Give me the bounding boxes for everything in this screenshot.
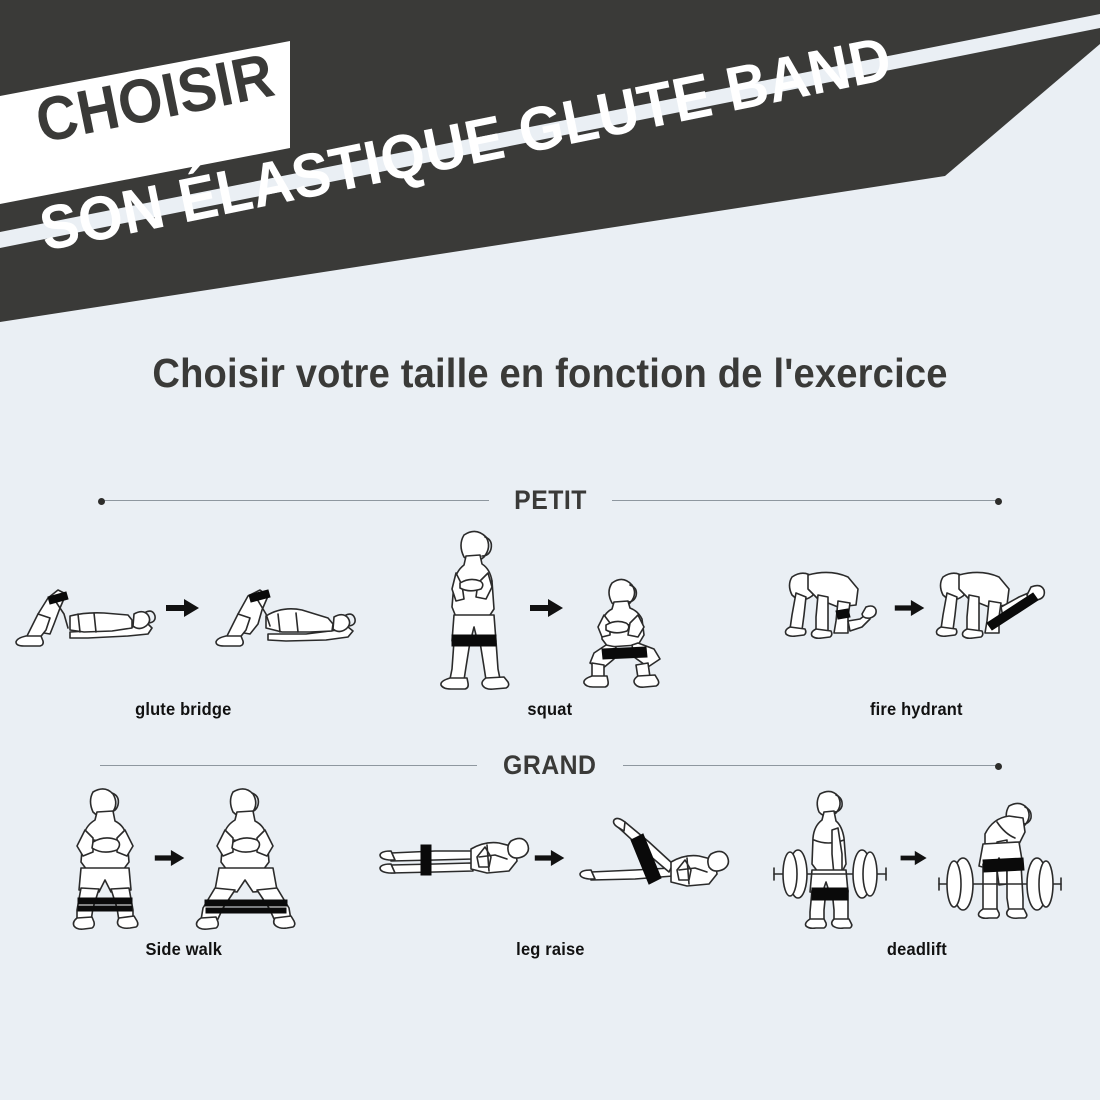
glute-bridge-figure-end [208, 568, 358, 648]
exercise-glute-bridge: glute bridge [0, 520, 367, 720]
exercise-deadlift: deadlift [733, 780, 1100, 960]
side-walk-figure-end [193, 784, 301, 932]
deadlift-figure-end [935, 788, 1065, 928]
exercise-fire-hydrant: fire hydrant [733, 520, 1100, 720]
figure-pair-side-walk [65, 780, 301, 935]
exercise-leg-raise: leg raise [367, 780, 734, 960]
size-label-grand: GRAND [500, 750, 601, 781]
exercise-squat: squat [367, 520, 734, 720]
arrow-right-icon [164, 596, 202, 620]
arrow-right-icon [528, 596, 566, 620]
size-divider-petit: PETIT [100, 485, 1000, 516]
figure-pair-glute-bridge [8, 520, 358, 695]
banner-title-line-1: CHOISIR [30, 40, 280, 158]
squat-figure-end [572, 523, 670, 693]
figure-pair-squat [430, 520, 670, 695]
size-label-petit: PETIT [510, 485, 590, 516]
exercise-label-squat: squat [528, 699, 573, 720]
exercise-label-side-walk: Side walk [145, 939, 222, 960]
exercise-label-fire-hydrant: fire hydrant [870, 699, 963, 720]
deadlift-figure-start [768, 788, 893, 928]
squat-figure-start [430, 523, 522, 693]
figure-pair-deadlift [768, 780, 1065, 935]
fire-hydrant-figure-end [933, 563, 1051, 653]
exercise-side-walk: Side walk [0, 780, 367, 960]
header-banner: CHOISIR SON ÉLASTIQUE GLUTE BAND [0, 0, 1100, 345]
exercise-label-glute-bridge: glute bridge [135, 699, 231, 720]
arrow-right-icon [153, 847, 187, 869]
arrow-right-icon [899, 848, 929, 868]
glute-bridge-figure-start [8, 568, 158, 648]
size-divider-grand: GRAND [100, 750, 1000, 781]
divider-rule-right [612, 500, 1001, 501]
divider-rule-right-grand [623, 765, 1000, 766]
divider-dot-left [98, 498, 105, 505]
side-walk-figure-start [65, 784, 147, 932]
leg-raise-figure-end [573, 810, 725, 906]
divider-rule-left-grand [100, 765, 477, 766]
arrow-right-icon [533, 847, 567, 869]
infographic-page: CHOISIR SON ÉLASTIQUE GLUTE BAND Choisir… [0, 0, 1100, 1100]
page-subtitle: Choisir votre taille en fonction de l'ex… [39, 350, 1062, 397]
exercise-label-leg-raise: leg raise [516, 939, 584, 960]
divider-dot-right [995, 498, 1002, 505]
figure-pair-fire-hydrant [782, 520, 1051, 695]
divider-dot-right-grand [995, 763, 1002, 770]
arrow-right-icon [893, 597, 927, 619]
banner-title-line-2: SON ÉLASTIQUE GLUTE BAND [34, 23, 897, 265]
exercise-row-petit: glute bridge [0, 520, 1100, 720]
banner-text-layer: CHOISIR SON ÉLASTIQUE GLUTE BAND [0, 0, 1100, 345]
exercise-label-deadlift: deadlift [887, 939, 947, 960]
fire-hydrant-figure-start [782, 563, 887, 653]
leg-raise-figure-start [375, 815, 527, 900]
divider-rule-left [100, 500, 489, 501]
exercise-row-grand: Side walk [0, 780, 1100, 960]
figure-pair-leg-raise [375, 780, 725, 935]
